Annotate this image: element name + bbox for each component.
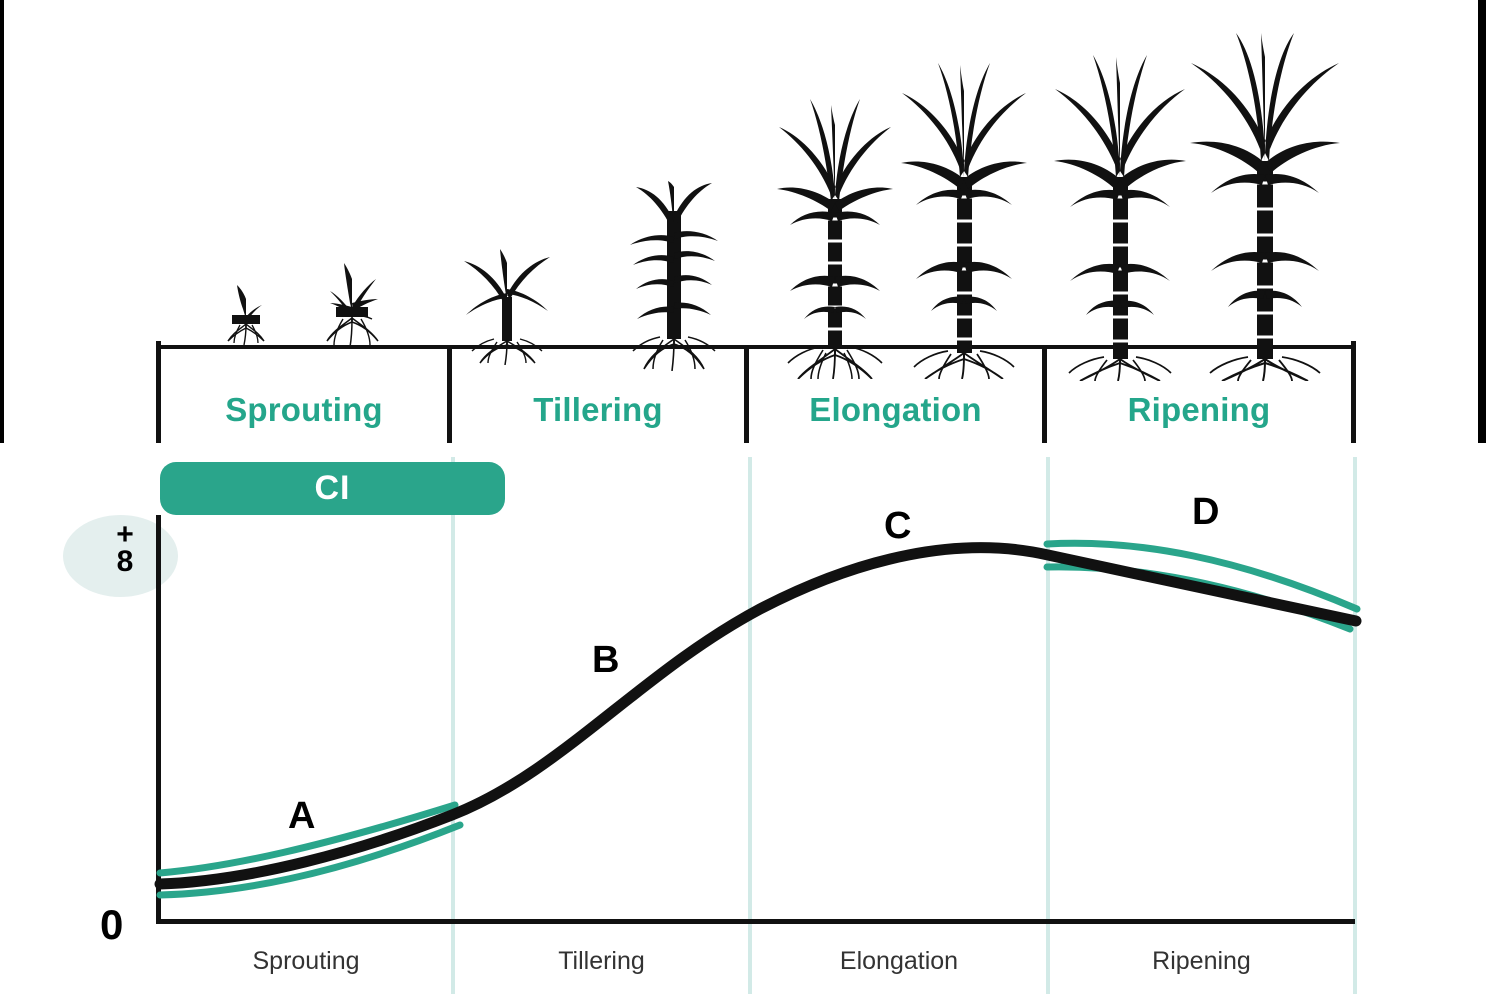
soil-line [156,345,1356,349]
x-tick-tillering: Tillering [455,941,748,981]
growth-stage-illustration-panel: Sprouting Tillering Elongation Ripening [0,0,1486,443]
plant-cane-tall [900,61,1028,379]
growth-curve-chart: CI +8 0 A B C D Sprouting Tillering E [0,443,1486,994]
curve-annotation-b: B [592,639,619,682]
stage-label-elongation: Elongation [749,388,1042,432]
stage-label-ripening: Ripening [1047,388,1351,432]
stage-label-sprouting: Sprouting [161,388,447,432]
figure-root: Sprouting Tillering Elongation Ripening … [0,0,1486,994]
ci-lower-ripening [1047,567,1350,629]
curve-annotation-a: A [288,795,315,838]
ci-upper-ripening [1047,543,1357,609]
x-tick-sprouting: Sprouting [161,941,451,981]
curve-layer [0,443,1486,994]
plant-cane-mature-1 [1054,55,1186,381]
x-tick-ripening: Ripening [1050,941,1353,981]
growth-curve-line [160,548,1356,884]
stage-label-tillering: Tillering [452,388,744,432]
stage-divider-right [1351,341,1356,443]
x-tick-elongation: Elongation [752,941,1046,981]
curve-annotation-c: C [884,505,911,548]
plant-tiller-large [614,181,734,371]
curve-annotation-d: D [1192,491,1219,534]
plant-cane-mature-2 [1190,33,1340,381]
plant-cane-medium [776,91,894,379]
